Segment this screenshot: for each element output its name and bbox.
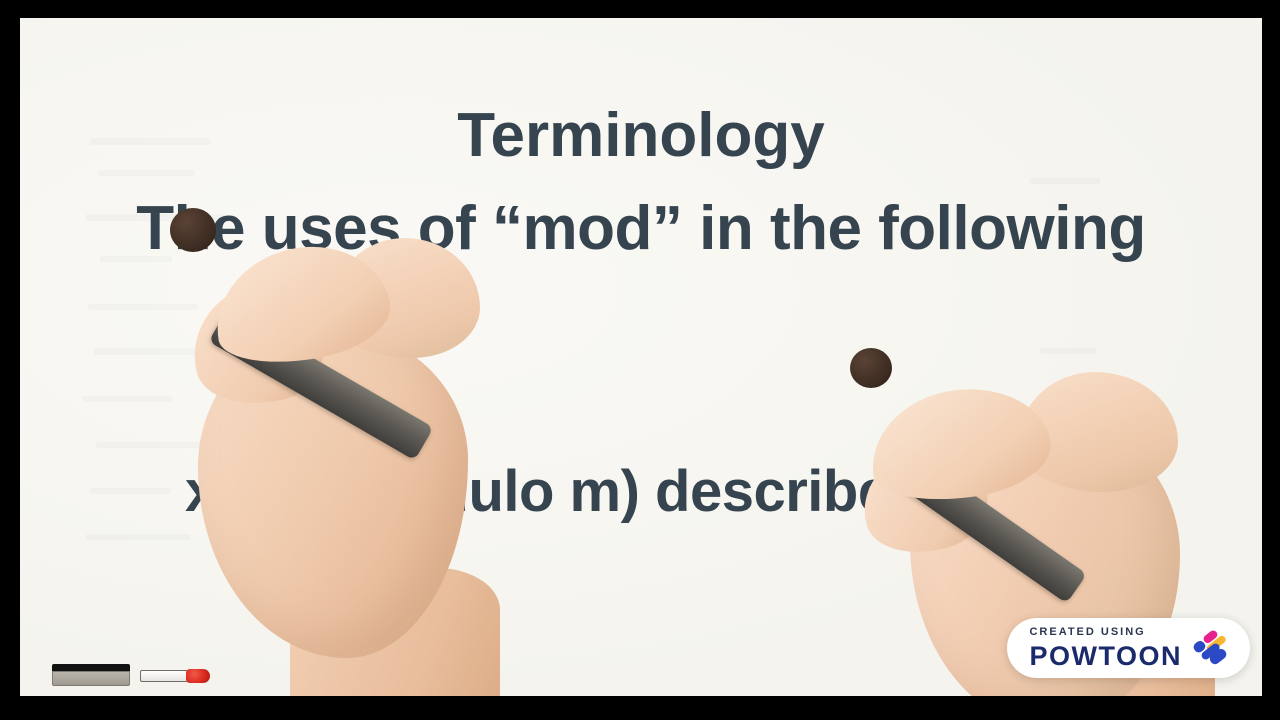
letterbox-bottom xyxy=(0,696,1280,720)
letterbox-right xyxy=(1262,0,1280,720)
whiteboard-eraser-icon xyxy=(52,664,130,686)
powtoon-created-using-label: CREATED USING xyxy=(1029,627,1182,638)
video-frame: Terminology The uses of “mod” in the fol… xyxy=(0,0,1280,720)
red-marker-cap xyxy=(186,669,210,683)
eraser-top xyxy=(52,664,130,671)
board-text-group: Terminology The uses of “mod” in the fol… xyxy=(20,18,1262,696)
red-marker-icon xyxy=(140,669,210,683)
powtoon-watermark-badge[interactable]: CREATED USING POWTOON xyxy=(1007,618,1250,678)
letterbox-top xyxy=(0,0,1280,18)
eraser-body xyxy=(52,671,130,686)
red-marker-body xyxy=(140,670,192,682)
powtoon-watermark-text: CREATED USING POWTOON xyxy=(1029,627,1182,670)
slide-equation-clip: x ≡ y( modulo m) describes xyxy=(185,448,920,538)
powtoon-brand-label: POWTOON xyxy=(1029,643,1182,670)
slide-subtitle: The uses of “mod” in the following xyxy=(20,193,1262,264)
slide-equation: x ≡ y( modulo m) describes xyxy=(185,458,920,525)
slide-title: Terminology xyxy=(20,100,1262,171)
marker-tray xyxy=(34,656,224,690)
powtoon-logo-icon xyxy=(1192,626,1236,670)
letterbox-left xyxy=(0,0,20,720)
whiteboard-surface: Terminology The uses of “mod” in the fol… xyxy=(20,18,1262,696)
